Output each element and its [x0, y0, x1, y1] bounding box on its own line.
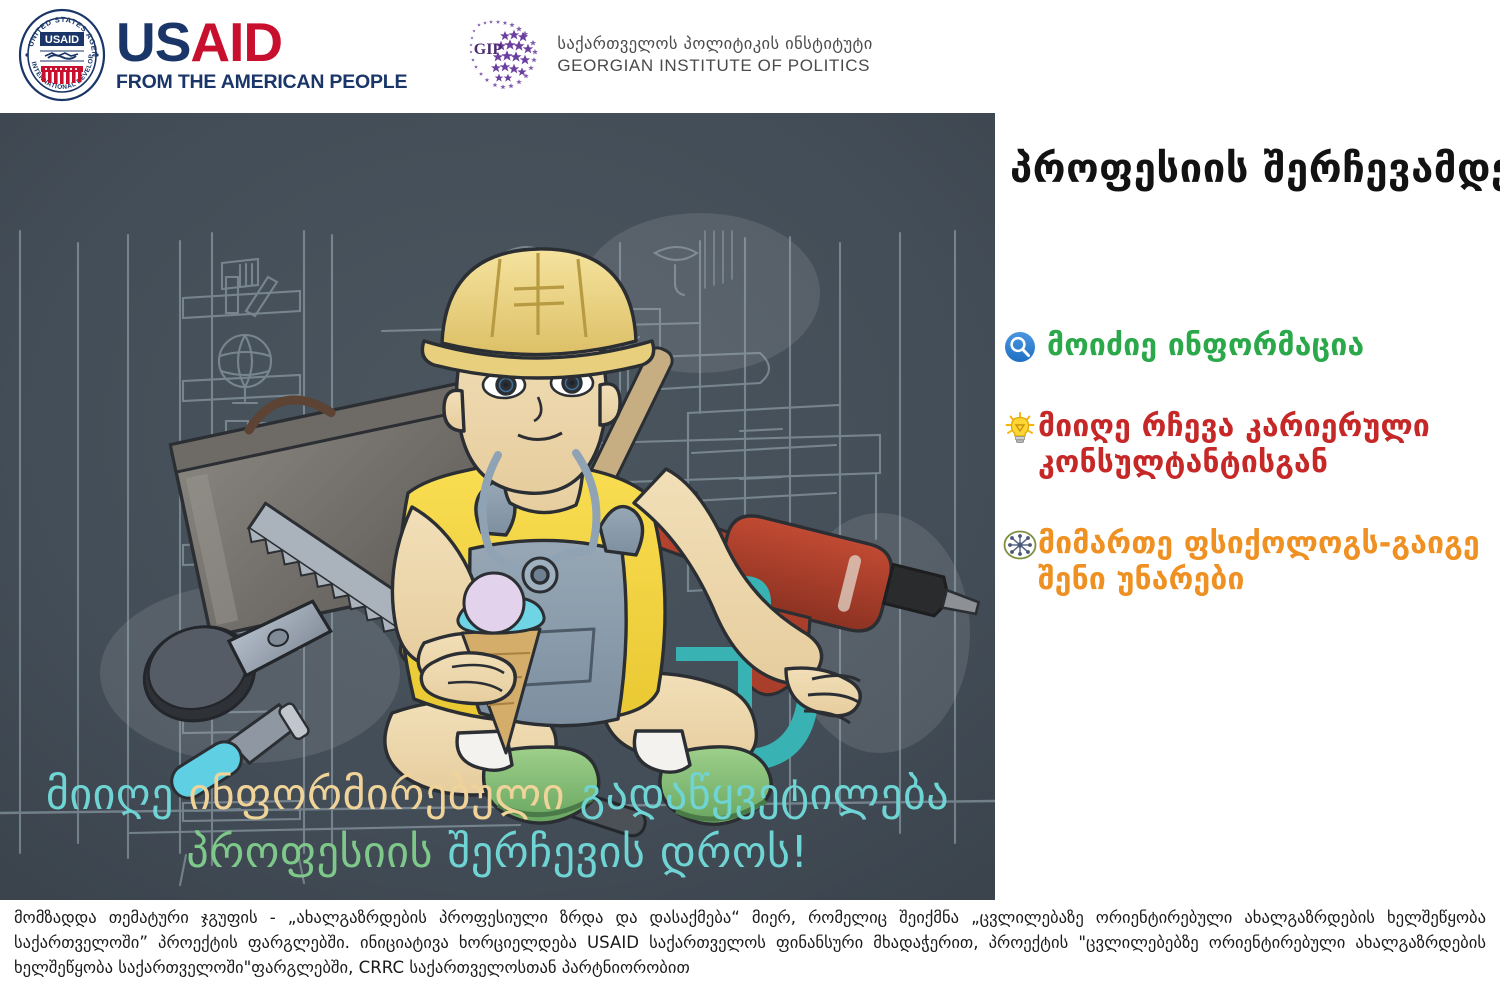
magnifying-glass-icon [1003, 330, 1037, 364]
usaid-seal-icon: UNITED STATES AGENCY INTERNATIONAL DEVEL… [18, 8, 106, 102]
list-item-label: მიიღე რჩევა კარიერული კონსულტანტისგან [1038, 409, 1500, 482]
gip-logo: GIP საქართველოს პოლიტიკის ინსტიტუტი GEOR… [465, 16, 872, 94]
gip-name-ka: საქართველოს პოლიტიკის ინსტიტუტი [557, 33, 872, 54]
gip-globe-icon: GIP [465, 16, 543, 94]
list-item-label: მიმართე ფსიქოლოგს-გაიგე შენი უნარები [1038, 526, 1500, 599]
footer-text: მომზადდა თემატური ჯგუფის - „ახალგაზრდები… [14, 905, 1486, 981]
gip-name-en: GEORGIAN INSTITUTE OF POLITICS [557, 55, 872, 77]
gip-name-block: საქართველოს პოლიტიკის ინსტიტუტი GEORGIAN… [557, 33, 872, 78]
logo-bar: UNITED STATES AGENCY INTERNATIONAL DEVEL… [0, 0, 1500, 110]
list-item: მოიძიე ინფორმაცია [1003, 328, 1500, 365]
caption-word-2: ინფორმირებული [188, 769, 565, 820]
lightbulb-icon [1003, 411, 1037, 445]
usaid-tagline: FROM THE AMERICAN PEOPLE [116, 71, 407, 94]
usaid-logo: UNITED STATES AGENCY INTERNATIONAL DEVEL… [18, 8, 407, 102]
usaid-wordmark: USAID FROM THE AMERICAN PEOPLE [116, 16, 407, 93]
list-item-label: მოიძიე ინფორმაცია [1047, 328, 1364, 365]
page-title: პროფესიის შერჩევამდე: [1010, 146, 1500, 192]
usaid-word-aid: AID [190, 11, 282, 73]
advice-list: მოიძიე ინფორმაცია [1003, 328, 1500, 643]
svg-text:USAID: USAID [45, 34, 79, 46]
poster-caption: მიიღე ინფორმირებული გადაწყვეტილება პროფე… [0, 766, 995, 882]
caption-word-1: მიიღე [46, 769, 174, 820]
caption-word-4: პროფესიის [186, 827, 433, 878]
caption-line-1: მიიღე ინფორმირებული გადაწყვეტილება [0, 766, 995, 824]
footer-credit: მომზადდა თემატური ჯგუფის - „ახალგაზრდები… [0, 905, 1500, 981]
list-item: მიმართე ფსიქოლოგს-გაიგე შენი უნარები [1003, 526, 1500, 599]
list-item: მიიღე რჩევა კარიერული კონსულტანტისგან [1003, 409, 1500, 482]
caption-word-6: დროს! [660, 827, 809, 878]
caption-word-5: შერჩევის [448, 827, 646, 878]
network-nodes-icon [1003, 528, 1037, 562]
svg-text:GIP: GIP [474, 41, 503, 58]
side-panel: პროფესიის შერჩევამდე: მოიძიე ინფორმაცია [1003, 113, 1500, 900]
caption-word-3: გადაწყვეტილება [580, 769, 950, 820]
poster-panel: TV [0, 113, 995, 900]
usaid-word-us: US [116, 11, 190, 73]
caption-line-2: პროფესიის შერჩევის დროს! [0, 824, 995, 882]
